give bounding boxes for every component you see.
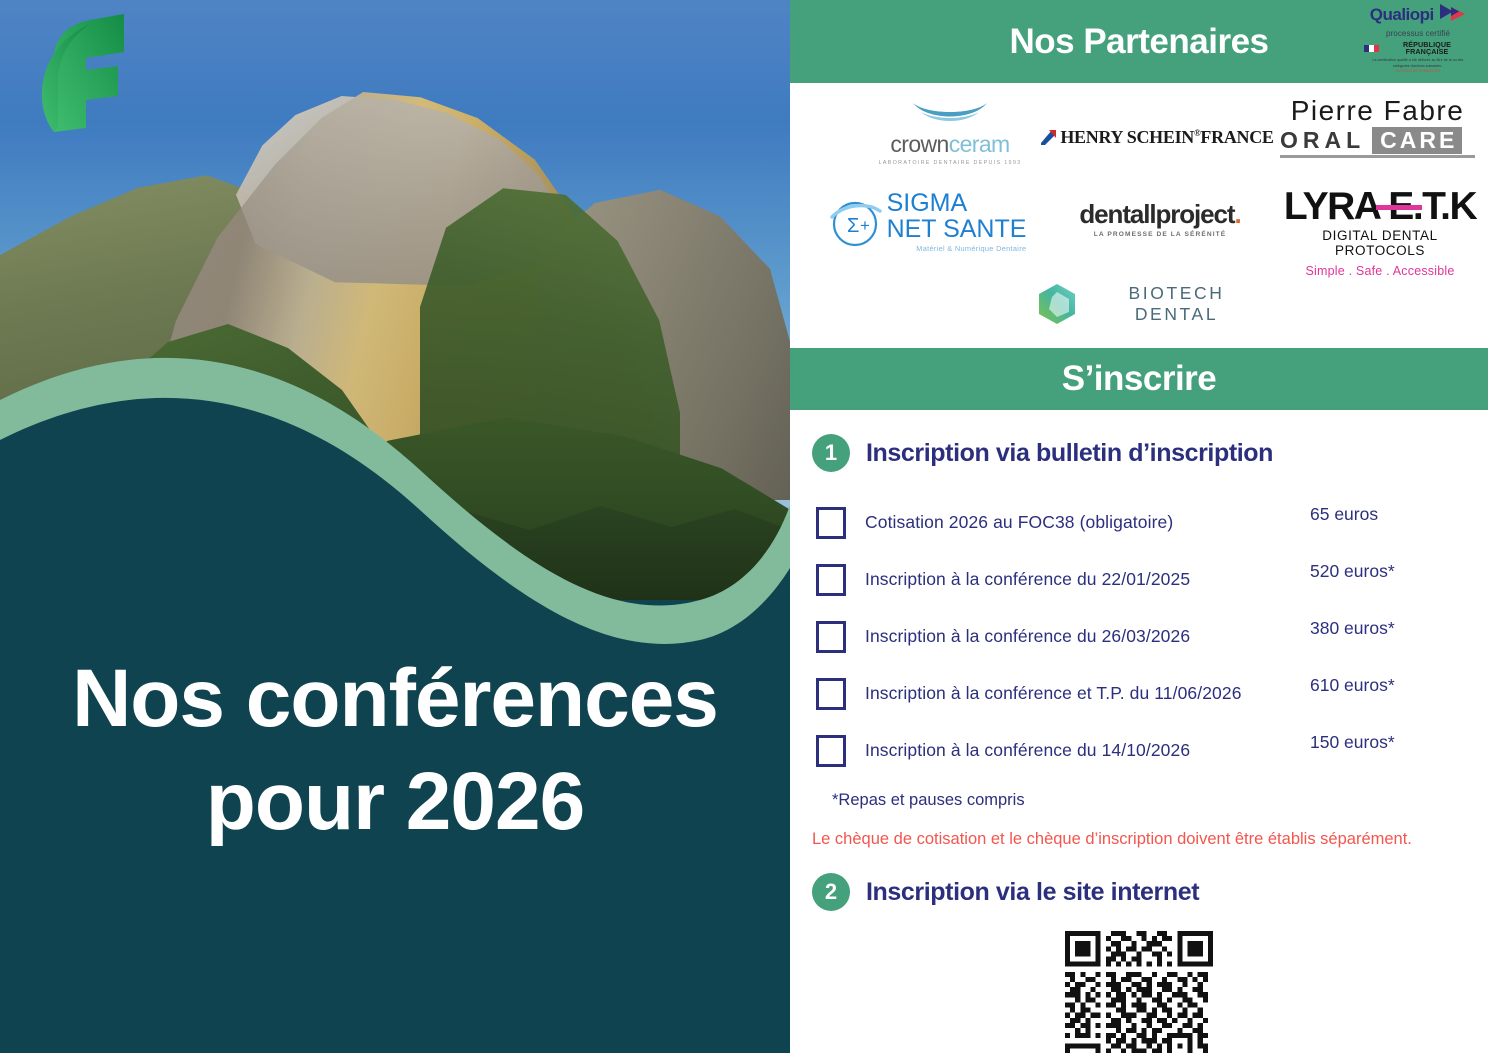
step-1: 1 Inscription via bulletin d’inscription: [812, 434, 1488, 472]
sigma-line2: NET SANTE: [887, 217, 1027, 243]
henry-schein-suffix: FRANCE: [1200, 127, 1273, 147]
sigma-tagline: Matériel & Numérique Dentaire: [887, 245, 1027, 253]
qualiopi-fineprint: La certification qualité a été délivrée …: [1364, 58, 1472, 73]
option-checkbox[interactable]: [816, 507, 846, 539]
step-2-label: Inscription via le site internet: [866, 878, 1199, 907]
qualiopi-subtitle: processus certifié: [1364, 30, 1472, 38]
partner-logo-biotech-dental: BIOTECH DENTAL: [1038, 283, 1268, 325]
svg-text:+: +: [860, 216, 870, 235]
qr-code-container[interactable]: [790, 931, 1488, 1053]
option-label: Inscription à la conférence et T.P. du 1…: [865, 683, 1242, 704]
option-label: Inscription à la conférence du 22/01/202…: [865, 569, 1190, 590]
page-title: Nos conférences pour 2026: [0, 648, 790, 853]
partner-logo-pierre-fabre-oral-care: Pierre Fabre ORAL CARE: [1280, 97, 1475, 158]
crownceram-name-part1: crown: [890, 131, 948, 157]
option-price: 380 euros*: [1310, 618, 1395, 639]
option-row[interactable]: Inscription à la conférence du 22/01/202…: [790, 551, 1488, 608]
pierre-fabre-care: CARE: [1372, 127, 1462, 154]
meals-note: *Repas et pauses compris: [832, 791, 1488, 810]
svg-text:Σ: Σ: [847, 215, 859, 237]
henry-schein-row: HENRY SCHEIN®FRANCE: [1035, 127, 1280, 148]
qr-code-icon[interactable]: [1065, 931, 1213, 1053]
crownceram-name-part2: ceram: [949, 131, 1010, 157]
lyra-strike-icon: [1376, 205, 1422, 210]
option-checkbox[interactable]: [816, 564, 846, 596]
cheque-warning-note: Le chèque de cotisation et le chèque d’i…: [812, 830, 1488, 849]
option-price: 610 euros*: [1310, 675, 1395, 696]
register-header-title: S’inscrire: [790, 348, 1488, 410]
poster-page: Nos conférences pour 2026 Nos Partenaire…: [0, 0, 1488, 1053]
right-content-panel: Nos Partenaires Qualiopi processus certi…: [790, 0, 1488, 1053]
pierre-fabre-oral: ORAL: [1280, 127, 1372, 154]
partners-header-band: Nos Partenaires Qualiopi processus certi…: [790, 0, 1488, 83]
lyra-tagline: Simple . Safe . Accessible: [1280, 264, 1480, 278]
left-hero-panel: Nos conférences pour 2026: [0, 0, 790, 1053]
lyra-subtitle: DIGITAL DENTAL PROTOCOLS: [1280, 228, 1480, 258]
qualiopi-name: Qualiopi: [1370, 6, 1434, 23]
qualiopi-fineprint-3: ACTIONS DE FORMATION: [1364, 69, 1472, 74]
henry-schein-wordmark: HENRY SCHEIN®FRANCE: [1060, 127, 1273, 148]
step-2: 2 Inscription via le site internet: [812, 873, 1488, 911]
dentallproject-tagline: LA PROMESSE DE LA SÉRÉNITÉ: [1045, 231, 1275, 238]
lyra-wordmark: LYRA E.T.K: [1280, 187, 1480, 226]
qualiopi-fineprint-1: La certification qualité a été délivrée …: [1364, 58, 1472, 63]
qualiopi-republic-text: RÉPUBLIQUE FRANÇAISE: [1382, 41, 1472, 55]
page-title-line1: Nos conférences: [46, 648, 744, 751]
qualiopi-arrows-icon: [1440, 4, 1466, 28]
crownceram-tagline: LABORATOIRE DENTAIRE DEPUIS 1993: [850, 160, 1050, 166]
f-logo-icon: [24, 10, 136, 135]
option-price: 520 euros*: [1310, 561, 1395, 582]
qualiopi-certification-logo: Qualiopi processus certifié RÉPUBLIQ: [1364, 4, 1472, 74]
crownceram-swoosh-icon: [911, 101, 989, 127]
partner-logo-sigma-net-sante: Σ + SIGMA NET SANTE Matériel & Numérique…: [822, 191, 1032, 253]
option-row[interactable]: Cotisation 2026 au FOC38 (obligatoire) 6…: [790, 494, 1488, 551]
pierre-fabre-oralcare-row: ORAL CARE: [1280, 127, 1475, 154]
option-price: 150 euros*: [1310, 732, 1395, 753]
option-checkbox[interactable]: [816, 735, 846, 767]
pierre-fabre-name: Pierre Fabre: [1280, 97, 1475, 125]
registration-options-list: Cotisation 2026 au FOC38 (obligatoire) 6…: [790, 494, 1488, 779]
step-1-label: Inscription via bulletin d’inscription: [866, 439, 1273, 468]
partner-logo-lyra-etk: LYRA E.T.K DIGITAL DENTAL PROTOCOLS Simp…: [1280, 187, 1480, 278]
dentallproject-wordmark: dentallproject.: [1045, 201, 1275, 227]
option-row[interactable]: Inscription à la conférence et T.P. du 1…: [790, 665, 1488, 722]
registration-section: 1 Inscription via bulletin d’inscription…: [790, 434, 1488, 1053]
qualiopi-republic-line: RÉPUBLIQUE FRANÇAISE: [1364, 41, 1472, 55]
partners-logo-grid: crownceram LABORATOIRE DENTAIRE DEPUIS 1…: [790, 83, 1488, 348]
dentallproject-name: dentallproject: [1079, 199, 1234, 229]
register-header-band: S’inscrire: [790, 348, 1488, 410]
sigma-row: Σ + SIGMA NET SANTE Matériel & Numérique…: [822, 191, 1032, 253]
sigma-line1: SIGMA: [887, 191, 1027, 217]
option-row[interactable]: Inscription à la conférence du 14/10/202…: [790, 722, 1488, 779]
option-label: Inscription à la conférence du 14/10/202…: [865, 740, 1190, 761]
option-label: Inscription à la conférence du 26/03/202…: [865, 626, 1190, 647]
partner-logo-dentallproject: dentallproject. LA PROMESSE DE LA SÉRÉNI…: [1045, 201, 1275, 238]
option-price: 65 euros: [1310, 504, 1378, 525]
partner-logo-henry-schein-france: HENRY SCHEIN®FRANCE: [1035, 127, 1280, 148]
pierre-fabre-underline: [1280, 155, 1475, 158]
biotech-row: BIOTECH DENTAL: [1038, 283, 1268, 325]
wave-divider: [0, 0, 790, 1053]
option-row[interactable]: Inscription à la conférence du 26/03/202…: [790, 608, 1488, 665]
option-checkbox[interactable]: [816, 678, 846, 710]
page-title-line2: pour 2026: [46, 751, 744, 854]
henry-schein-name: HENRY SCHEIN: [1060, 127, 1194, 147]
biotech-hexagon-icon: [1038, 283, 1076, 325]
french-flag-icon: [1364, 45, 1379, 52]
sigma-badge-icon: Σ +: [828, 195, 882, 249]
partner-logo-crownceram: crownceram LABORATOIRE DENTAIRE DEPUIS 1…: [850, 101, 1050, 166]
option-label: Cotisation 2026 au FOC38 (obligatoire): [865, 512, 1173, 533]
step-2-number: 2: [812, 873, 850, 911]
dentallproject-dot: .: [1234, 199, 1240, 229]
biotech-wordmark: BIOTECH DENTAL: [1085, 283, 1268, 325]
option-checkbox[interactable]: [816, 621, 846, 653]
step-1-number: 1: [812, 434, 850, 472]
henry-schein-mark-icon: [1041, 130, 1056, 145]
sigma-wordmark: SIGMA NET SANTE Matériel & Numérique Den…: [887, 191, 1027, 253]
crownceram-wordmark: crownceram: [850, 133, 1050, 156]
